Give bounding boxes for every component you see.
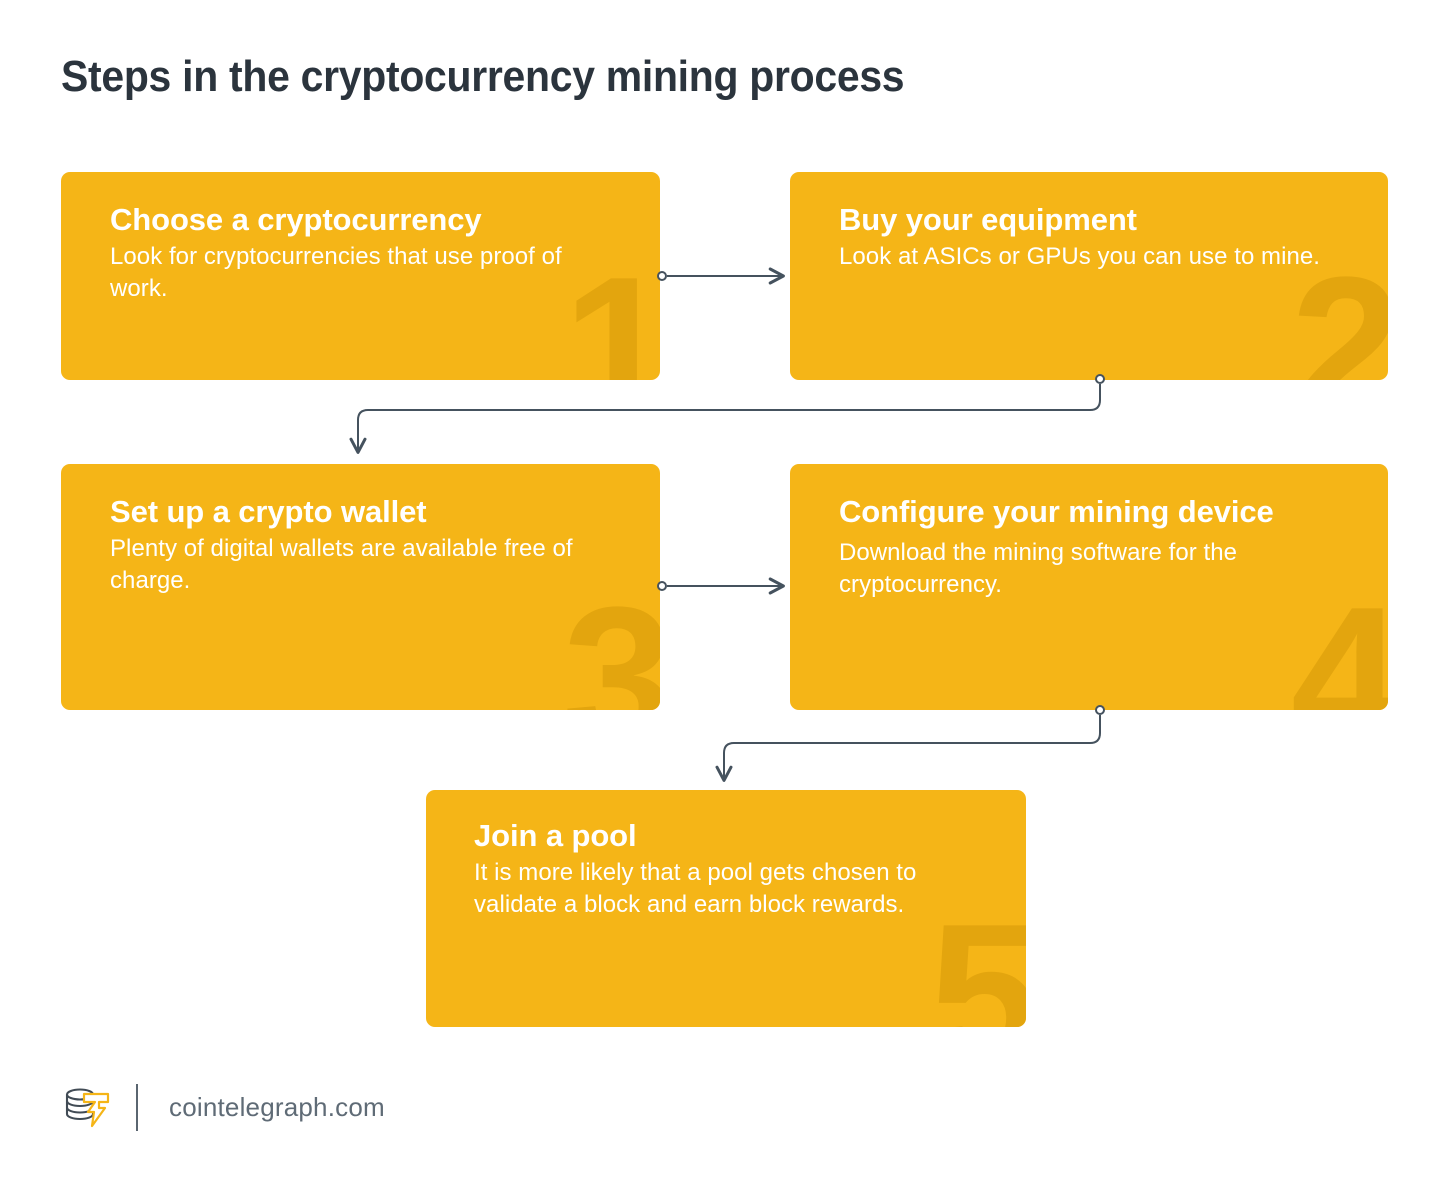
- connector-2-to-3: [358, 375, 1104, 452]
- step-card-3[interactable]: 3 Set up a crypto wallet Plenty of digit…: [61, 464, 660, 710]
- step-card-5-body: Join a pool It is more likely that a poo…: [426, 790, 1026, 921]
- step-card-5-description: It is more likely that a pool gets chose…: [474, 857, 980, 921]
- step-card-2[interactable]: 2 Buy your equipment Look at ASICs or GP…: [790, 172, 1388, 380]
- step-card-1[interactable]: 1 Choose a cryptocurrency Look for crypt…: [61, 172, 660, 380]
- footer-site-label: cointelegraph.com: [169, 1092, 385, 1123]
- step-card-3-title: Set up a crypto wallet: [110, 494, 614, 530]
- step-card-3-description: Plenty of digital wallets are available …: [110, 533, 614, 597]
- cointelegraph-coin-stack-logo-icon: [61, 1081, 113, 1133]
- step-card-1-body: Choose a cryptocurrency Look for cryptoc…: [61, 172, 660, 305]
- connector-3-to-4: [658, 582, 783, 590]
- step-card-2-body: Buy your equipment Look at ASICs or GPUs…: [790, 172, 1388, 273]
- step-card-4-body: Configure your mining device Download th…: [790, 464, 1388, 601]
- step-card-2-title: Buy your equipment: [839, 202, 1342, 238]
- connector-1-to-2: [658, 272, 783, 280]
- step-card-3-body: Set up a crypto wallet Plenty of digital…: [61, 464, 660, 597]
- step-number-watermark-3: 3: [563, 578, 660, 710]
- step-card-4-description: Download the mining software for the cry…: [839, 537, 1342, 601]
- step-card-5-title: Join a pool: [474, 818, 980, 854]
- step-card-2-description: Look at ASICs or GPUs you can use to min…: [839, 241, 1342, 273]
- step-card-4-title: Configure your mining device: [839, 494, 1342, 530]
- step-card-5[interactable]: 5 Join a pool It is more likely that a p…: [426, 790, 1026, 1027]
- step-card-4[interactable]: 4 Configure your mining device Download …: [790, 464, 1388, 710]
- step-card-1-description: Look for cryptocurrencies that use proof…: [110, 241, 614, 305]
- footer: cointelegraph.com: [61, 1075, 385, 1139]
- footer-divider: [136, 1084, 138, 1131]
- connector-4-to-5: [724, 706, 1104, 780]
- page-title: Steps in the cryptocurrency mining proce…: [61, 52, 904, 102]
- step-card-1-title: Choose a cryptocurrency: [110, 202, 614, 238]
